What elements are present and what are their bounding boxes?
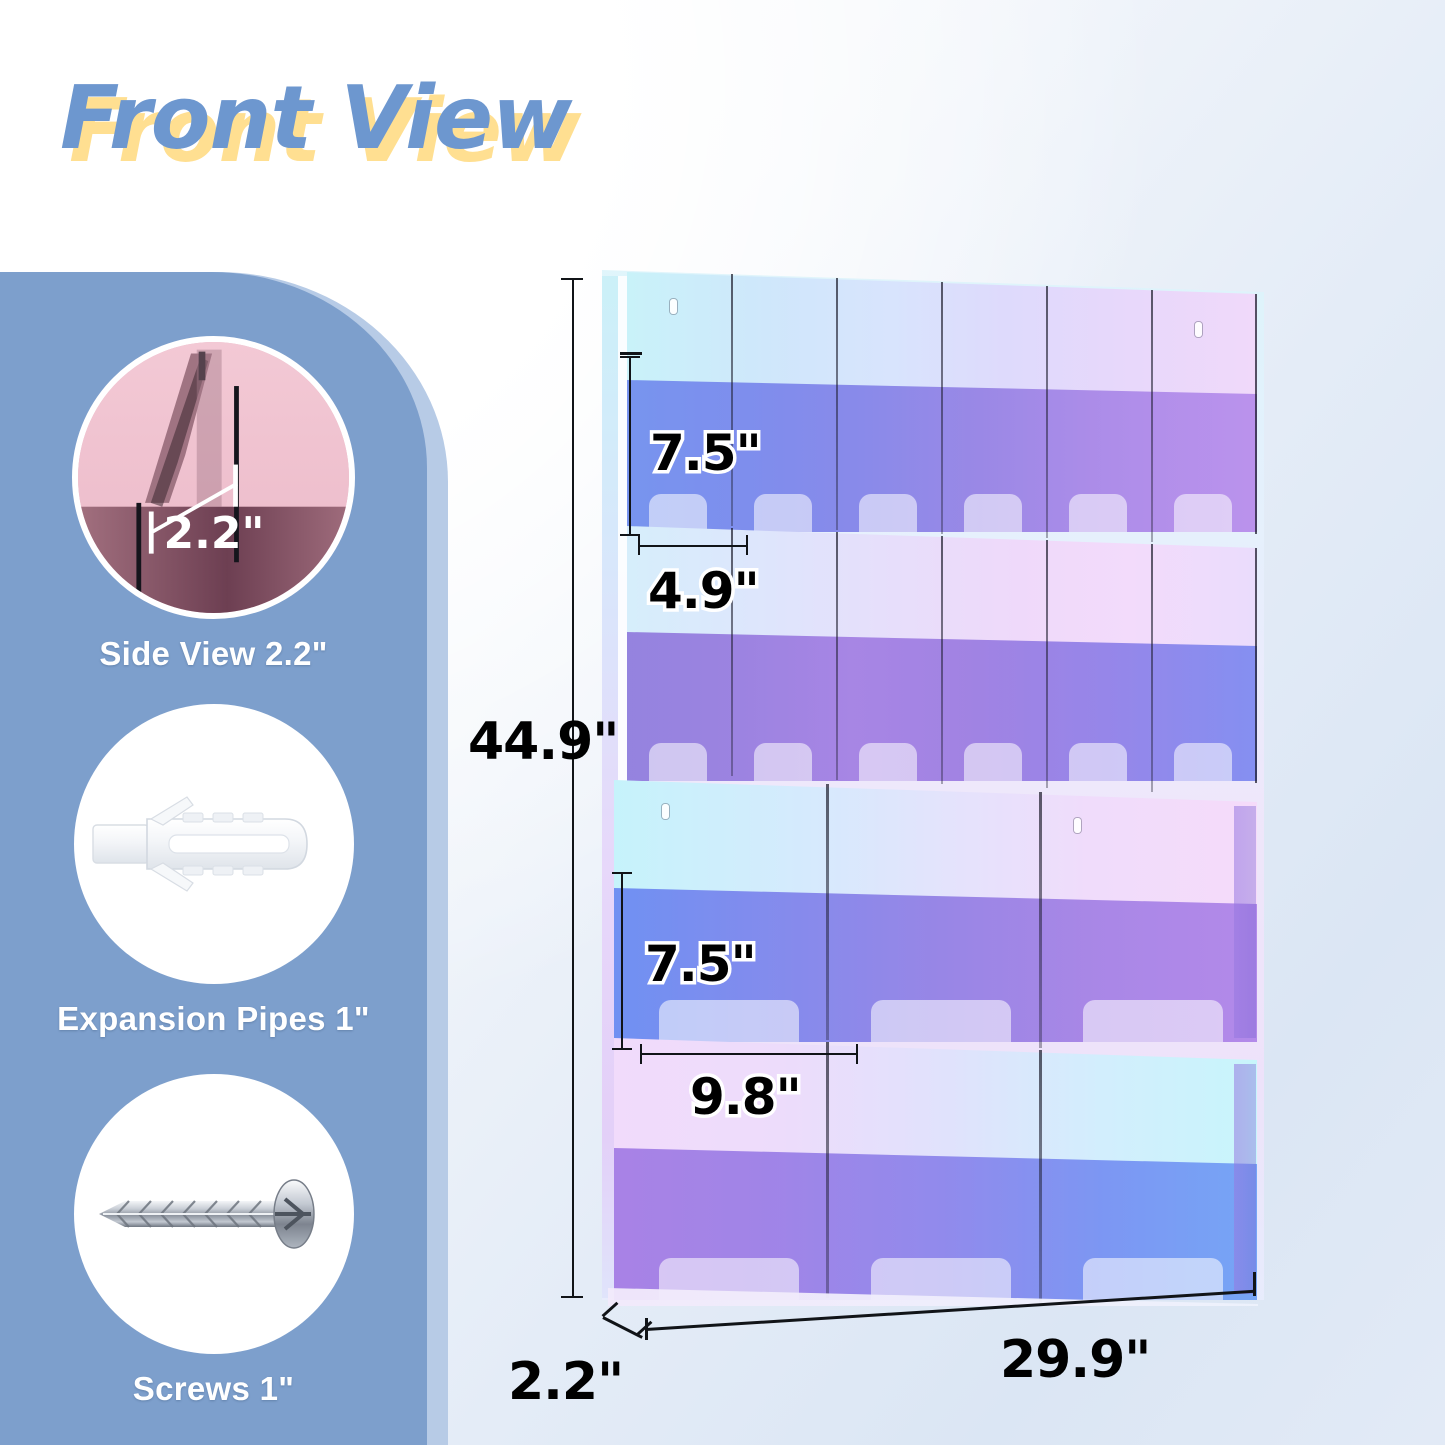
hanging-hole xyxy=(670,299,677,314)
overall-height-dimension-line xyxy=(572,278,574,1298)
row-1-right-edge xyxy=(1255,294,1257,534)
row-2-divider xyxy=(836,532,838,780)
upper-pocket-height-tick-bottom xyxy=(620,534,640,536)
upper-pocket-height-label: 7.5" xyxy=(650,424,761,482)
sidebar-item-expansion-pipes[interactable]: Expansion Pipes 1" xyxy=(0,704,427,1038)
upper-pocket-width-tick-left xyxy=(638,535,640,555)
overall-height-label: 44.9" xyxy=(468,712,618,772)
upper-pocket-height-tick-top xyxy=(620,356,640,358)
hanging-hole xyxy=(662,804,669,819)
lower-pocket-height-tick-top xyxy=(612,872,632,874)
row-1-divider xyxy=(1151,290,1153,542)
hanging-hole xyxy=(1195,322,1202,337)
lower-pocket-width-tick-left xyxy=(640,1044,642,1064)
sidebar-item-screws[interactable]: Screws 1" xyxy=(0,1074,427,1408)
thumb-notch xyxy=(754,743,812,781)
upper-pocket-width-dimension-line xyxy=(638,545,748,547)
thumb-notch xyxy=(871,1258,1011,1300)
row-1-divider xyxy=(941,282,943,534)
thumb-notch xyxy=(964,743,1022,781)
upper-pocket-width-label: 4.9" xyxy=(648,562,759,620)
thumb-notch xyxy=(1174,743,1232,781)
lower-pocket-width-dimension-line xyxy=(640,1053,858,1055)
sidebar-item-side-view[interactable]: 2.2" Side View 2.2" xyxy=(0,336,427,673)
lower-pocket-width-label: 9.8" xyxy=(690,1068,801,1126)
lower-pocket-width-tick-right xyxy=(856,1044,858,1064)
thumb-notch xyxy=(1083,1000,1223,1042)
depth-label: 2.2" xyxy=(508,1352,623,1412)
side-view-diagram-icon: 2.2" xyxy=(72,336,355,619)
row-2-divider xyxy=(1151,544,1153,792)
overall-width-label: 29.9" xyxy=(1000,1330,1150,1390)
upper-pocket-height-dimension-line xyxy=(629,356,631,536)
row-2-divider xyxy=(1046,540,1048,788)
thumb-notch xyxy=(659,1000,799,1042)
row-1 xyxy=(627,272,1257,532)
sidebar-item-label: Expansion Pipes 1" xyxy=(0,1000,427,1038)
row-3-divider xyxy=(826,784,829,1040)
side-view-inline-dimension: 2.2" xyxy=(164,508,265,559)
row-1-divider xyxy=(836,278,838,530)
thumb-notch xyxy=(1069,743,1127,781)
sidebar-item-label: Side View 2.2" xyxy=(0,635,427,673)
thumb-notch xyxy=(859,743,917,781)
hanging-hole xyxy=(1074,818,1081,833)
row-2-divider xyxy=(941,536,943,784)
row-3-right-side-wall xyxy=(1234,806,1256,1038)
overall-height-tick-bottom xyxy=(561,1296,583,1298)
page-title-text: Front View xyxy=(60,63,571,173)
sidebar-item-label: Screws 1" xyxy=(0,1370,427,1408)
thumb-notch xyxy=(649,743,707,781)
row-4-right-side-wall xyxy=(1234,1064,1256,1294)
row-4-divider xyxy=(826,1042,829,1298)
overall-height-extension-tick xyxy=(620,352,642,355)
lower-pocket-height-label: 7.5" xyxy=(645,935,756,993)
accessories-sidebar: 2.2" Side View 2.2" xyxy=(0,272,448,1445)
row-4-divider xyxy=(1039,1050,1042,1306)
thumb-notch xyxy=(871,1000,1011,1042)
overall-width-tick-right xyxy=(1253,1272,1256,1296)
expansion-pipe-icon xyxy=(74,704,354,984)
page-title: Front View Front View xyxy=(60,63,700,173)
lower-pocket-height-dimension-line xyxy=(621,872,623,1050)
row-1-divider xyxy=(731,274,733,526)
row-2-right-edge xyxy=(1255,548,1257,783)
screw-icon xyxy=(74,1074,354,1354)
overall-height-tick-top xyxy=(561,278,583,280)
row-1-divider xyxy=(1046,286,1048,538)
row-3-divider xyxy=(1039,792,1042,1048)
row-3 xyxy=(614,780,1257,1042)
upper-pocket-width-tick-right xyxy=(746,535,748,555)
lower-pocket-height-tick-bottom xyxy=(612,1048,632,1050)
sidebar-panel: 2.2" Side View 2.2" xyxy=(0,272,427,1445)
